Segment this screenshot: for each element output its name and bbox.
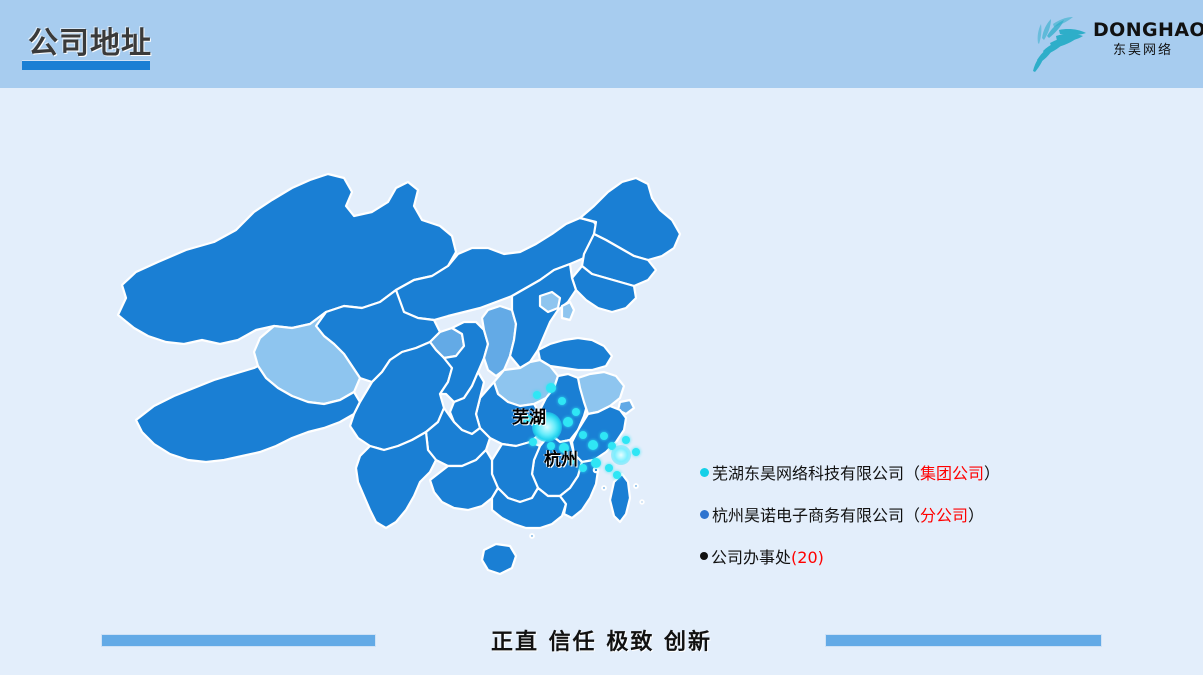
legend: 芜湖东昊网络科技有限公司（集团公司） 杭州昊诺电子商务有限公司（分公司） 公司办…: [700, 460, 1120, 586]
legend-item-offices: 公司办事处(20): [700, 544, 1120, 568]
office-marker-dot: [533, 391, 541, 399]
island-dot-1: [594, 468, 598, 472]
province-beijing: [540, 292, 560, 312]
office-marker-dot: [600, 432, 608, 440]
island-dot-5: [530, 534, 534, 538]
legend-label-offices: 公司办事处(20): [711, 544, 824, 568]
logo-name-en: DONGHAO: [1093, 20, 1193, 41]
page-header: 公司地址 DONGHAO 东昊网络: [0, 0, 1203, 88]
island-dot-2: [602, 486, 606, 490]
china-map-svg: [96, 130, 716, 610]
legend-bullet-icon-blue: [700, 510, 709, 519]
legend-label-group-company: 芜湖东昊网络科技有限公司（集团公司）: [712, 460, 1000, 484]
province-shanxi: [482, 306, 516, 376]
province-shapes: [118, 174, 680, 574]
province-hainan: [482, 544, 516, 574]
page-title: 公司地址: [28, 18, 152, 62]
logo-text-block: DONGHAO 东昊网络: [1093, 20, 1193, 59]
island-dot-4: [640, 500, 643, 503]
company-logo: DONGHAO 东昊网络: [1015, 6, 1195, 78]
city-label-hangzhou: 杭州: [544, 445, 578, 470]
office-marker-dot: [558, 397, 566, 405]
office-marker-dot: [591, 458, 601, 468]
legend-label-branch-company: 杭州昊诺电子商务有限公司（分公司）: [712, 502, 984, 526]
province-taiwan: [610, 474, 630, 522]
office-marker-dot: [613, 471, 621, 479]
province-yunnan: [356, 432, 436, 528]
logo-name-cn: 东昊网络: [1093, 42, 1193, 59]
legend-bullet-icon-cyan: [700, 468, 709, 477]
office-marker-dot: [546, 383, 556, 393]
legend-bullet-icon-black: [700, 552, 708, 560]
office-marker-dot: [588, 440, 598, 450]
office-marker-dot: [563, 417, 573, 427]
legend-item-group-company: 芜湖东昊网络科技有限公司（集团公司）: [700, 460, 1120, 484]
office-marker-dot: [632, 448, 640, 456]
island-dot-3: [634, 484, 638, 488]
province-tianjin: [562, 302, 574, 320]
title-underline: [22, 60, 150, 70]
feather-fan-logo-icon: [1023, 10, 1095, 74]
office-marker-dot: [605, 464, 613, 472]
office-marker-dot: [622, 436, 630, 444]
office-marker-dot: [529, 438, 537, 446]
office-marker-dot: [572, 408, 580, 416]
china-map-container: 芜湖 杭州: [96, 130, 716, 610]
office-marker-dot: [579, 464, 587, 472]
city-label-wuhu: 芜湖: [512, 403, 546, 428]
office-marker-dot: [579, 431, 587, 439]
branch-marker-hangzhou: [611, 445, 631, 465]
legend-item-branch-company: 杭州昊诺电子商务有限公司（分公司）: [700, 502, 1120, 526]
footer-bar-right: [825, 634, 1102, 647]
